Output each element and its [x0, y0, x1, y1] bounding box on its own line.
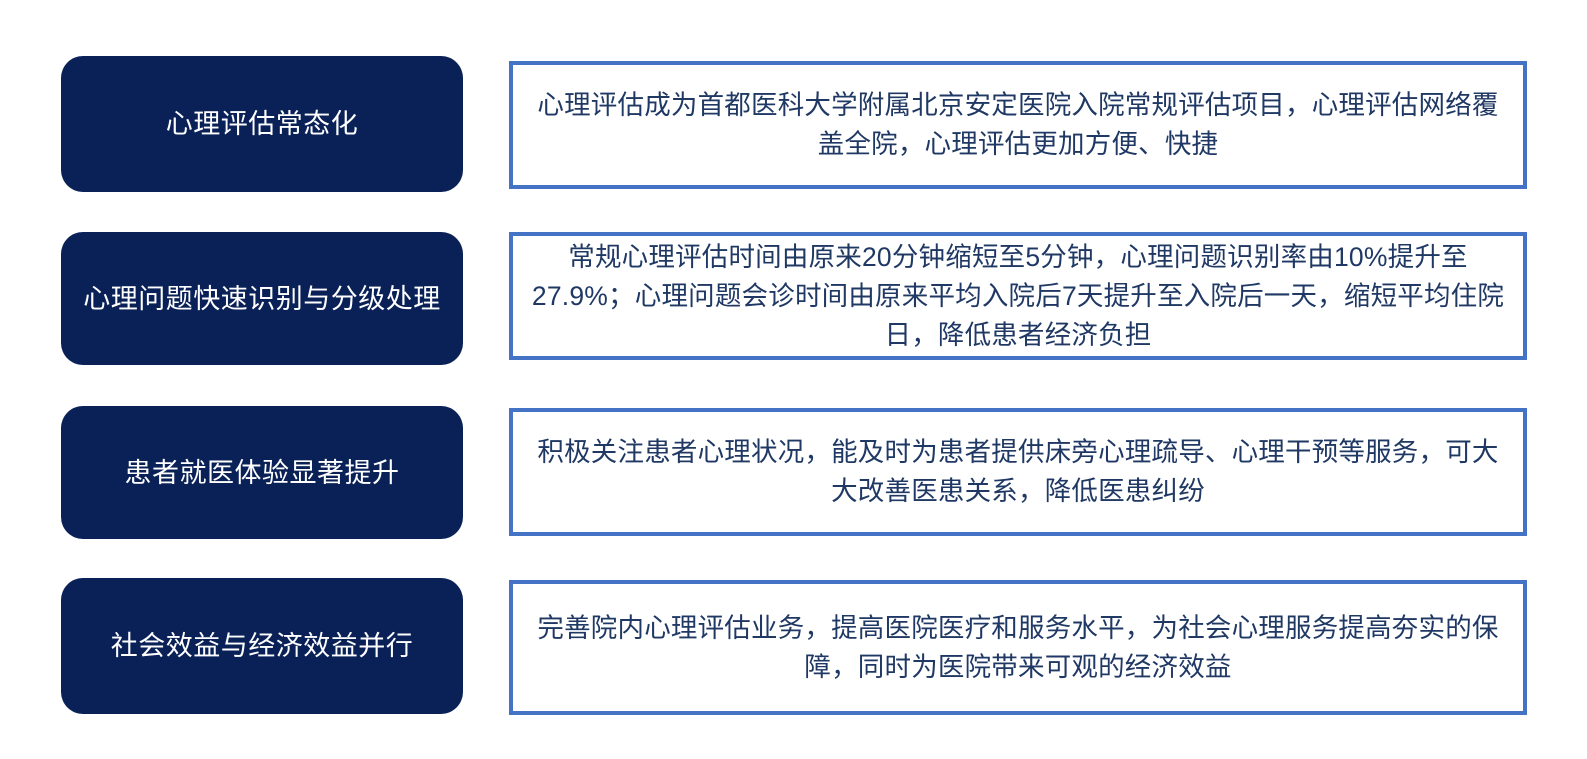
benefits-diagram: 心理评估常态化 心理评估成为首都医科大学附属北京安定医院入院常规评估项目，心理评…	[0, 0, 1587, 759]
benefit-content-box-4[interactable]: 完善院内心理评估业务，提高医院医疗和服务水平，为社会心理服务提高夯实的保障，同时…	[509, 580, 1527, 715]
benefit-content-box-1[interactable]: 心理评估成为首都医科大学附属北京安定医院入院常规评估项目，心理评估网络覆盖全院，…	[509, 61, 1527, 189]
benefit-content-text-3: 积极关注患者心理状况，能及时为患者提供床旁心理疏导、心理干预等服务，可大大改善医…	[531, 433, 1505, 511]
benefit-label-text-3: 患者就医体验显著提升	[125, 454, 400, 492]
benefit-label-box-3[interactable]: 患者就医体验显著提升	[61, 406, 463, 539]
benefit-label-box-4[interactable]: 社会效益与经济效益并行	[61, 578, 463, 714]
benefit-content-text-4: 完善院内心理评估业务，提高医院医疗和服务水平，为社会心理服务提高夯实的保障，同时…	[531, 609, 1505, 687]
benefit-label-box-2[interactable]: 心理问题快速识别与分级处理	[61, 232, 463, 365]
benefit-content-box-3[interactable]: 积极关注患者心理状况，能及时为患者提供床旁心理疏导、心理干预等服务，可大大改善医…	[509, 408, 1527, 536]
benefit-label-text-2: 心理问题快速识别与分级处理	[83, 280, 441, 318]
benefit-label-box-1[interactable]: 心理评估常态化	[61, 56, 463, 192]
benefit-content-box-2[interactable]: 常规心理评估时间由原来20分钟缩短至5分钟，心理问题识别率由10%提升至27.9…	[509, 232, 1527, 360]
benefit-content-text-2: 常规心理评估时间由原来20分钟缩短至5分钟，心理问题识别率由10%提升至27.9…	[531, 238, 1505, 355]
benefit-label-text-1: 心理评估常态化	[166, 105, 359, 143]
benefit-label-text-4: 社会效益与经济效益并行	[111, 627, 414, 665]
benefit-content-text-1: 心理评估成为首都医科大学附属北京安定医院入院常规评估项目，心理评估网络覆盖全院，…	[531, 86, 1505, 164]
